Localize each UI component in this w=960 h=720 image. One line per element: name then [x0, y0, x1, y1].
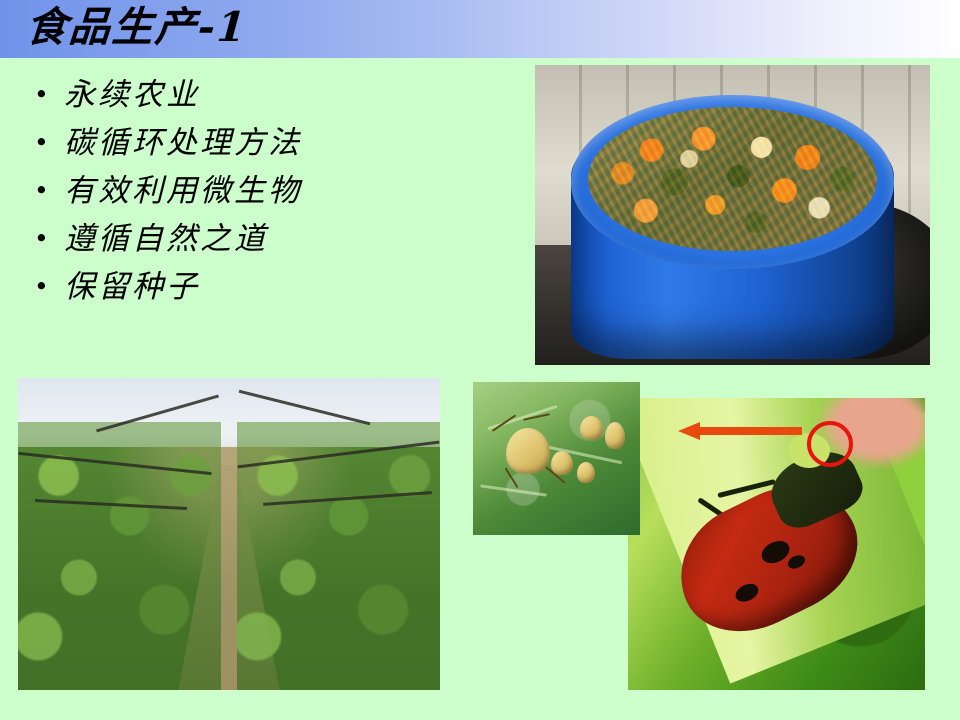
list-item: 遵循自然之道	[22, 218, 492, 261]
pea-field-image	[18, 378, 440, 690]
compost-barrel-image	[535, 65, 930, 365]
left-arrow-icon	[678, 421, 802, 441]
aphid-nymph	[551, 451, 573, 475]
highlight-circle-icon	[807, 421, 853, 467]
aphid-nymph	[577, 462, 595, 483]
ladybug-spot	[785, 553, 807, 572]
list-item: 保留种子	[22, 266, 492, 309]
aphid-nymph	[580, 416, 603, 440]
aphid-nymph	[605, 422, 625, 450]
list-item: 永续农业	[22, 74, 492, 117]
aphid-adult	[506, 428, 549, 474]
list-item: 碳循环处理方法	[22, 122, 492, 165]
slide-canvas: 食品生产-1 永续农业 碳循环处理方法 有效利用微生物 遵循自然之道 保留种子	[0, 0, 960, 720]
bullet-list: 永续农业 碳循环处理方法 有效利用微生物 遵循自然之道 保留种子	[22, 74, 492, 314]
ladybug-spot	[732, 580, 760, 605]
compost-contents	[588, 107, 876, 251]
page-title: 食品生产-1	[24, 0, 249, 55]
list-item: 有效利用微生物	[22, 170, 492, 213]
aphid-closeup-image	[473, 382, 640, 535]
ladybug-image	[628, 398, 925, 690]
